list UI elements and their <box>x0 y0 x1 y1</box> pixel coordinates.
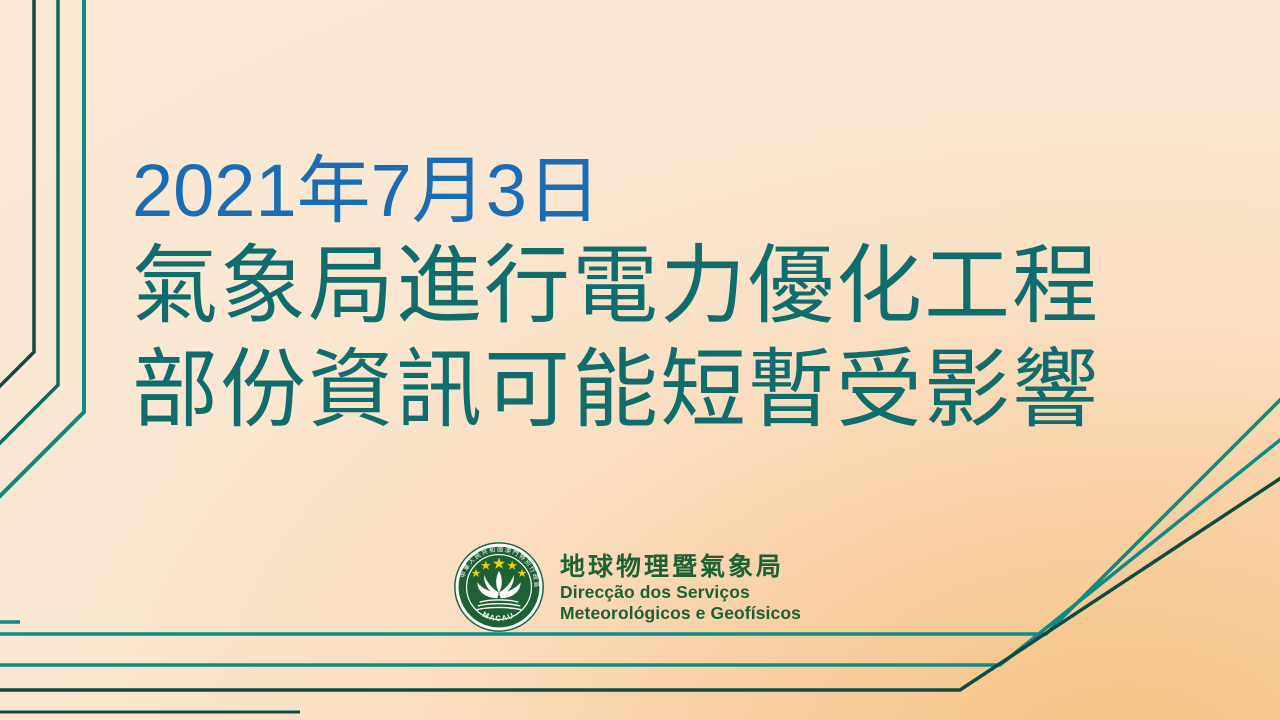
slide-canvas: 2021年7月3日 氣象局進行電力優化工程 部份資訊可能短暫受影響 中華人民共和… <box>0 0 1280 720</box>
macau-sar-emblem-icon: 中華人民共和國澳門特別行政區 <box>452 540 546 634</box>
headline-line-1: 氣象局進行電力優化工程 <box>132 234 1152 338</box>
organization-name-zh: 地球物理暨氣象局 <box>560 552 801 582</box>
organization-name-pt-line-2: Meteorológicos e Geofísicos <box>560 603 801 624</box>
headline-line-2: 部份資訊可能短暫受影響 <box>132 338 1152 442</box>
date-line: 2021年7月3日 <box>132 148 1152 234</box>
organization-name-block: 地球物理暨氣象局 Direcção dos Serviços Meteoroló… <box>560 550 801 624</box>
organization-logo-lockup: 中華人民共和國澳門特別行政區 <box>452 540 801 634</box>
organization-name-pt-line-1: Direcção dos Serviços <box>560 582 801 603</box>
headline-block: 2021年7月3日 氣象局進行電力優化工程 部份資訊可能短暫受影響 <box>132 148 1152 442</box>
